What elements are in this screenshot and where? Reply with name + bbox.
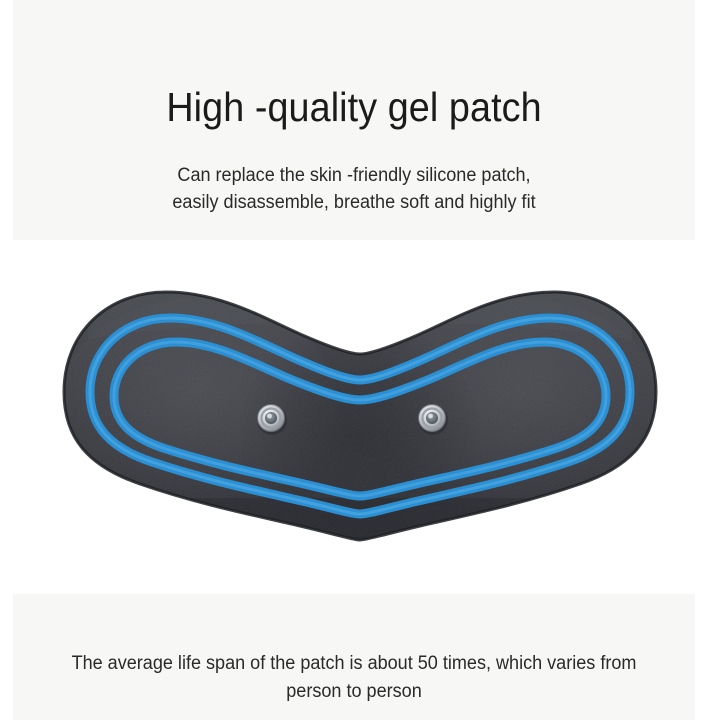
gel-patch-image <box>48 274 672 560</box>
header-band: High -quality gel patch Can replace the … <box>13 0 695 240</box>
subtitle-line-2: easily disassemble, breathe soft and hig… <box>30 189 678 216</box>
lifespan-caption: The average life span of the patch is ab… <box>30 650 678 706</box>
caption-line-1: The average life span of the patch is ab… <box>30 650 678 678</box>
page-title: High -quality gel patch <box>40 82 667 132</box>
caption-line-2: person to person <box>30 678 678 706</box>
product-feature-page: High -quality gel patch Can replace the … <box>0 0 720 720</box>
footer-band: The average life span of the patch is ab… <box>13 594 695 720</box>
product-image-stage <box>0 240 720 594</box>
page-subtitle: Can replace the skin -friendly silicone … <box>30 162 678 216</box>
patch-body <box>48 274 672 560</box>
subtitle-line-1: Can replace the skin -friendly silicone … <box>30 162 678 189</box>
